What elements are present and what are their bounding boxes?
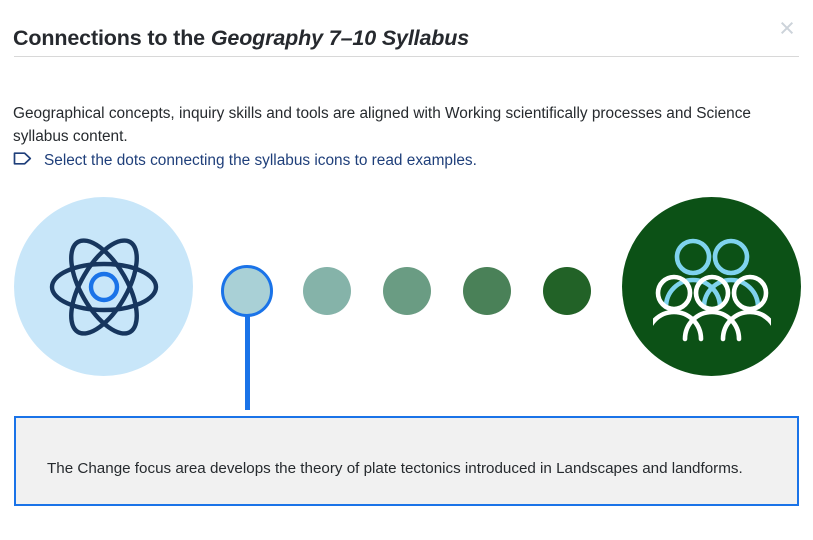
dot-5[interactable] [543, 267, 591, 315]
intro-paragraph: Geographical concepts, inquiry skills an… [13, 102, 783, 148]
page-title-emphasis: Geography 7–10 Syllabus [211, 26, 469, 50]
modal-header: Connections to the Geography 7–10 Syllab… [0, 0, 813, 56]
dot-connector-line [245, 315, 250, 410]
info-box: The Change focus area develops the theor… [14, 416, 799, 506]
dot-4[interactable] [463, 267, 511, 315]
dot-2[interactable] [303, 267, 351, 315]
header-divider [14, 56, 799, 57]
tag-icon [13, 151, 32, 171]
dot-1[interactable] [221, 265, 273, 317]
page-title: Connections to the Geography 7–10 Syllab… [13, 26, 469, 51]
info-box-text: The Change focus area develops the theor… [47, 458, 762, 480]
page-title-prefix: Connections to the [13, 26, 211, 50]
close-icon[interactable]: × [771, 12, 803, 44]
atom-icon [14, 197, 193, 376]
hint-row: Select the dots connecting the syllabus … [13, 150, 477, 172]
dot-3[interactable] [383, 267, 431, 315]
syllabus-connection-diagram [0, 195, 813, 395]
people-group-icon [622, 197, 801, 376]
hint-text[interactable]: Select the dots connecting the syllabus … [44, 150, 477, 172]
